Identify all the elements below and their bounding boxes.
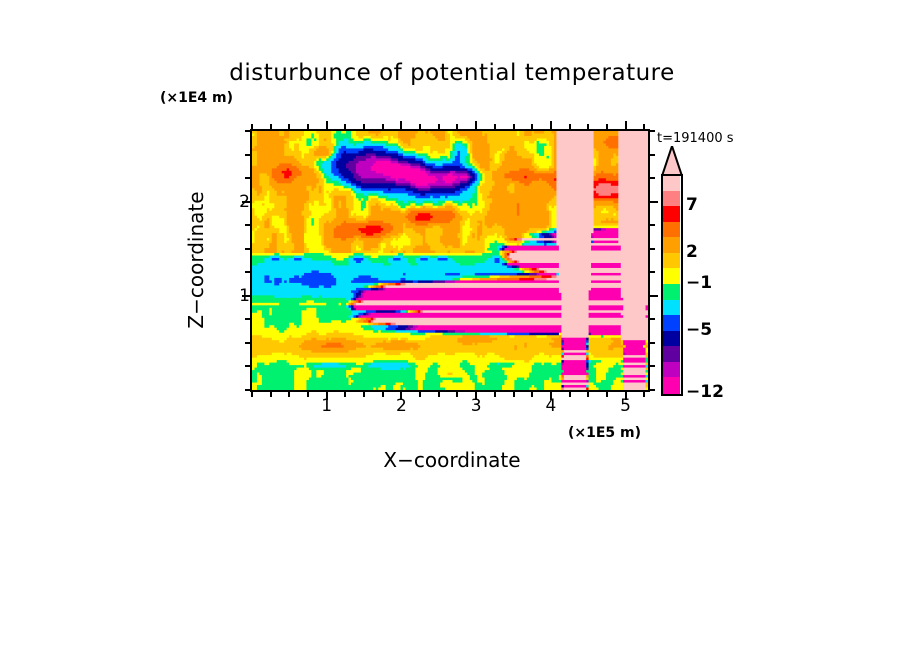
colorbar-band	[662, 222, 680, 239]
x-tick	[550, 121, 552, 131]
x-tick	[643, 390, 645, 397]
y-tick	[648, 130, 655, 132]
x-tick	[326, 121, 328, 131]
colorbar-band	[662, 300, 680, 317]
y-ticklabel: 1	[228, 286, 250, 306]
x-tick	[569, 390, 571, 397]
colorbar-ticklabel: −12	[686, 382, 724, 402]
y-axis-unit-label: (×1E4 m)	[160, 90, 233, 106]
colorbar-ticklabel: 7	[686, 195, 698, 215]
x-tick	[606, 124, 608, 131]
x-tick	[288, 124, 290, 131]
x-tick	[419, 124, 421, 131]
y-tick	[648, 318, 655, 320]
x-ticklabel: 3	[471, 396, 482, 416]
x-tick	[344, 124, 346, 131]
x-tick	[382, 124, 384, 131]
x-tick	[363, 390, 365, 397]
colorbar-band	[662, 362, 680, 379]
colorbar-band	[662, 191, 680, 208]
x-tick	[438, 390, 440, 397]
x-tick	[494, 124, 496, 131]
y-tick	[648, 342, 655, 344]
x-tick	[587, 124, 589, 131]
x-tick	[270, 124, 272, 131]
colorbar-band	[662, 268, 680, 285]
y-tick	[245, 154, 252, 156]
y-tick	[648, 177, 655, 179]
x-ticklabel: 2	[396, 396, 407, 416]
y-tick	[648, 154, 655, 156]
colorbar-band	[662, 377, 680, 393]
y-axis-title-text: Z−coordinate	[184, 170, 208, 350]
y-tick	[648, 224, 655, 226]
x-ticklabel: 4	[545, 396, 556, 416]
x-tick	[606, 390, 608, 397]
y-axis-title: Z−coordinate	[182, 170, 210, 350]
x-tick	[400, 121, 402, 131]
timestamp-annotation: t=191400 s	[657, 131, 734, 146]
x-ticklabel: 5	[620, 396, 631, 416]
y-tick	[648, 201, 658, 203]
plot-area	[252, 131, 648, 390]
y-tick	[648, 295, 658, 297]
colorbar-arrow-tip	[661, 146, 683, 176]
x-tick	[419, 390, 421, 397]
x-tick	[531, 390, 533, 397]
x-tick	[456, 390, 458, 397]
x-tick	[587, 390, 589, 397]
x-ticklabel: 1	[321, 396, 332, 416]
x-tick	[307, 124, 309, 131]
x-tick	[456, 124, 458, 131]
y-tick	[648, 389, 655, 391]
x-tick	[307, 390, 309, 397]
x-tick	[344, 390, 346, 397]
y-tick	[245, 365, 252, 367]
y-tick	[245, 342, 252, 344]
x-tick	[531, 124, 533, 131]
x-tick	[513, 124, 515, 131]
figure-canvas: disturbunce of potential temperature (×1…	[0, 0, 904, 654]
x-axis-unit-label: (×1E5 m)	[568, 425, 641, 441]
y-ticklabel: 2	[228, 192, 250, 212]
y-tick	[245, 389, 252, 391]
x-tick	[643, 124, 645, 131]
colorbar-ticklabel: −1	[686, 273, 712, 293]
contour-field	[252, 131, 648, 390]
y-tick	[648, 271, 655, 273]
y-tick	[245, 271, 252, 273]
x-tick	[438, 124, 440, 131]
colorbar-band	[662, 253, 680, 270]
y-tick	[245, 130, 252, 132]
colorbar-ticklabel: 2	[686, 242, 698, 262]
x-tick	[494, 390, 496, 397]
colorbar-band	[662, 331, 680, 348]
x-tick	[625, 121, 627, 131]
y-tick	[245, 177, 252, 179]
x-tick	[475, 121, 477, 131]
y-tick	[245, 318, 252, 320]
x-tick	[251, 390, 253, 397]
x-tick	[513, 390, 515, 397]
x-tick	[569, 124, 571, 131]
x-axis-title: X−coordinate	[0, 448, 904, 472]
x-tick	[382, 390, 384, 397]
page-title: disturbunce of potential temperature	[0, 60, 904, 86]
colorbar-ticklabel: −5	[686, 320, 712, 340]
x-tick	[363, 124, 365, 131]
x-tick	[270, 390, 272, 397]
y-tick	[245, 248, 252, 250]
colorbar	[662, 175, 680, 393]
x-tick	[288, 390, 290, 397]
y-tick	[648, 365, 655, 367]
y-tick	[245, 224, 252, 226]
y-tick	[648, 248, 655, 250]
